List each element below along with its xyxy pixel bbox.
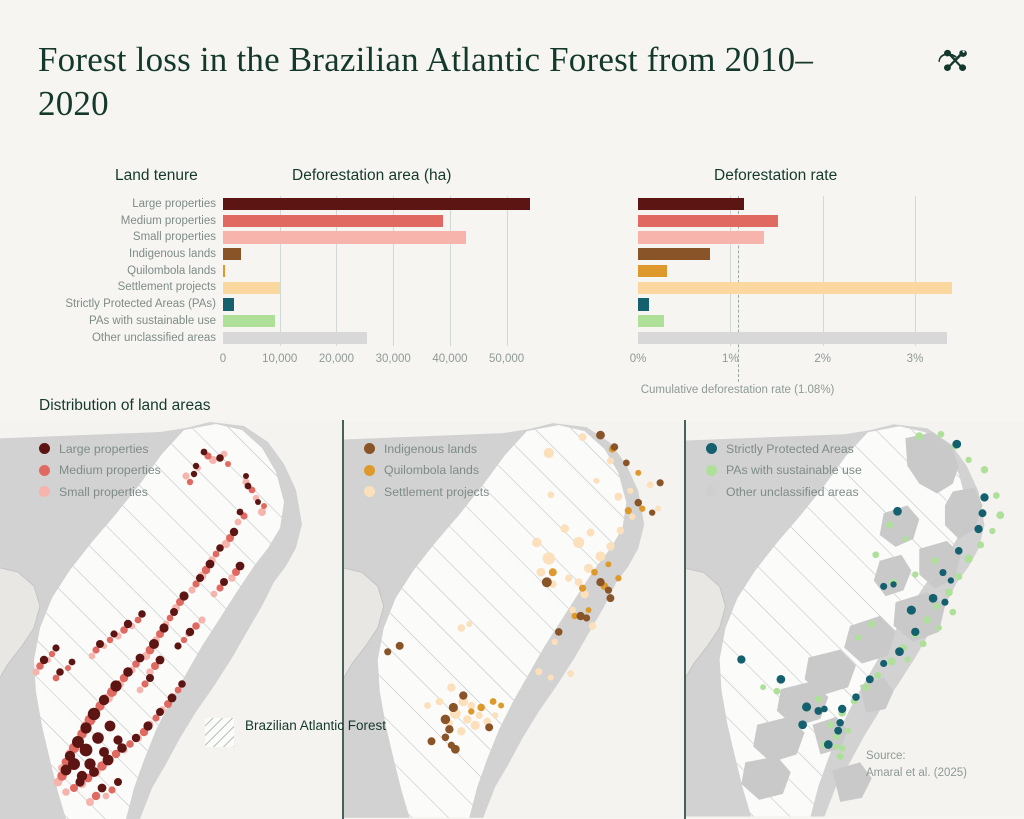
bar-row[interactable]: [638, 296, 963, 313]
legend-label: Quilombola lands: [384, 463, 479, 477]
deforestation-area-chart: [223, 196, 535, 350]
legend-label: Indigenous lands: [384, 442, 477, 456]
source-label: Source:: [866, 748, 967, 765]
bar-row[interactable]: [638, 313, 963, 330]
category-label: Medium properties: [20, 213, 216, 230]
bar-row[interactable]: [638, 280, 963, 297]
bar-row[interactable]: [223, 280, 535, 297]
cumulative-rate-note: Cumulative deforestation rate (1.08%): [641, 384, 835, 396]
axis-tick-label: 20,000: [319, 353, 354, 365]
legend-label: Medium properties: [59, 463, 161, 477]
land-tenure-header: Land tenure: [115, 167, 198, 185]
legend-dot-icon: [706, 443, 717, 454]
source-note: Source: Amaral et al. (2025): [866, 748, 967, 781]
bar[interactable]: [223, 315, 275, 327]
bar-row[interactable]: [638, 263, 963, 280]
bar[interactable]: [223, 248, 241, 260]
legend-item: Settlement projects: [364, 481, 489, 503]
legend-dot-icon: [39, 443, 50, 454]
legend-label: Other unclassified areas: [726, 485, 859, 499]
traditional-lands-map-panel: Indigenous lands Quilombola lands Settle…: [344, 420, 684, 819]
axis-tick-label: 50,000: [489, 353, 524, 365]
axis-tick-label: 0: [220, 353, 226, 365]
category-label: Large properties: [20, 196, 216, 213]
category-label: Indigenous lands: [20, 246, 216, 263]
axis-tick-label: 10,000: [262, 353, 297, 365]
bar[interactable]: [223, 282, 280, 294]
bar-row[interactable]: [638, 196, 963, 213]
bar[interactable]: [223, 215, 443, 227]
rate-axis-labels: 0%1%2%3%: [638, 353, 963, 371]
bar[interactable]: [638, 332, 947, 344]
brazilian-atlantic-forest-note: Brazilian Atlantic Forest: [205, 718, 386, 747]
axis-tick-label: 1%: [722, 353, 739, 365]
page-title: Forest loss in the Brazilian Atlantic Fo…: [38, 38, 828, 126]
legend-dot-icon: [39, 486, 50, 497]
bar[interactable]: [638, 265, 667, 277]
category-label: Small properties: [20, 229, 216, 246]
legend-dot-icon: [706, 465, 717, 476]
bar[interactable]: [223, 198, 530, 210]
legend-dot-icon: [706, 486, 717, 497]
category-label: Strictly Protected Areas (PAs): [20, 296, 216, 313]
deforestation-rate-chart: [638, 196, 963, 350]
bar[interactable]: [638, 215, 778, 227]
legend-item: Quilombola lands: [364, 460, 489, 482]
protected-areas-map-panel: Strictly Protected Areas PAs with sustai…: [686, 420, 1024, 819]
bar-row[interactable]: [223, 330, 535, 347]
bar-row[interactable]: [638, 246, 963, 263]
bar[interactable]: [638, 198, 744, 210]
legend-item: Strictly Protected Areas: [706, 438, 862, 460]
legend-dot-icon: [364, 465, 375, 476]
bar[interactable]: [223, 265, 225, 277]
bar[interactable]: [223, 332, 367, 344]
bar-row[interactable]: [223, 313, 535, 330]
legend-dot-icon: [364, 486, 375, 497]
bar-row[interactable]: [223, 296, 535, 313]
axis-tick-label: 3%: [907, 353, 924, 365]
legend-item: PAs with sustainable use: [706, 460, 862, 482]
category-label: Quilombola lands: [20, 263, 216, 280]
forest-note-label: Brazilian Atlantic Forest: [245, 718, 386, 735]
deforestation-area-header: Deforestation area (ha): [292, 167, 451, 185]
traditional-lands-map-legend: Indigenous lands Quilombola lands Settle…: [364, 438, 489, 503]
legend-item: Indigenous lands: [364, 438, 489, 460]
protected-areas-map-legend: Strictly Protected Areas PAs with sustai…: [706, 438, 862, 503]
category-label: Other unclassified areas: [20, 330, 216, 347]
legend-item: Large properties: [39, 438, 161, 460]
axis-tick-label: 30,000: [376, 353, 411, 365]
legend-label: Strictly Protected Areas: [726, 442, 854, 456]
gecko-lizard-logo-icon: [932, 38, 976, 82]
properties-map-panel: Large properties Medium properties Small…: [0, 420, 342, 819]
bar-row[interactable]: [223, 246, 535, 263]
legend-dot-icon: [39, 465, 50, 476]
bar-row[interactable]: [638, 213, 963, 230]
legend-item: Medium properties: [39, 460, 161, 482]
bar-row[interactable]: [223, 229, 535, 246]
legend-item: Small properties: [39, 481, 161, 503]
bar[interactable]: [638, 248, 710, 260]
legend-label: Small properties: [59, 485, 148, 499]
category-label: Settlement projects: [20, 279, 216, 296]
legend-label: Large properties: [59, 442, 149, 456]
axis-tick-label: 40,000: [432, 353, 467, 365]
category-label-list: Large properties Medium properties Small…: [20, 196, 216, 346]
properties-map-legend: Large properties Medium properties Small…: [39, 438, 161, 503]
legend-dot-icon: [364, 443, 375, 454]
infographic-root: Forest loss in the Brazilian Atlantic Fo…: [0, 0, 1024, 819]
bar[interactable]: [223, 298, 234, 310]
distribution-section-title: Distribution of land areas: [39, 397, 210, 415]
bar[interactable]: [638, 298, 649, 310]
bar[interactable]: [223, 231, 466, 243]
legend-item: Other unclassified areas: [706, 481, 862, 503]
category-label: PAs with sustainable use: [20, 313, 216, 330]
bar[interactable]: [638, 315, 664, 327]
legend-label: PAs with sustainable use: [726, 463, 862, 477]
bar-row[interactable]: [638, 229, 963, 246]
legend-label: Settlement projects: [384, 485, 489, 499]
axis-tick-label: 0%: [630, 353, 647, 365]
deforestation-rate-header: Deforestation rate: [714, 167, 837, 185]
axis-tick-label: 2%: [814, 353, 831, 365]
bar-row[interactable]: [223, 213, 535, 230]
bar-row[interactable]: [223, 196, 535, 213]
hatch-pattern-icon: [205, 718, 234, 747]
bar[interactable]: [638, 231, 764, 243]
bar[interactable]: [638, 282, 952, 294]
bar-row[interactable]: [638, 330, 963, 347]
source-citation: Amaral et al. (2025): [866, 765, 967, 782]
area-axis-labels: 010,00020,00030,00040,00050,000: [223, 353, 535, 371]
bar-row[interactable]: [223, 263, 535, 280]
